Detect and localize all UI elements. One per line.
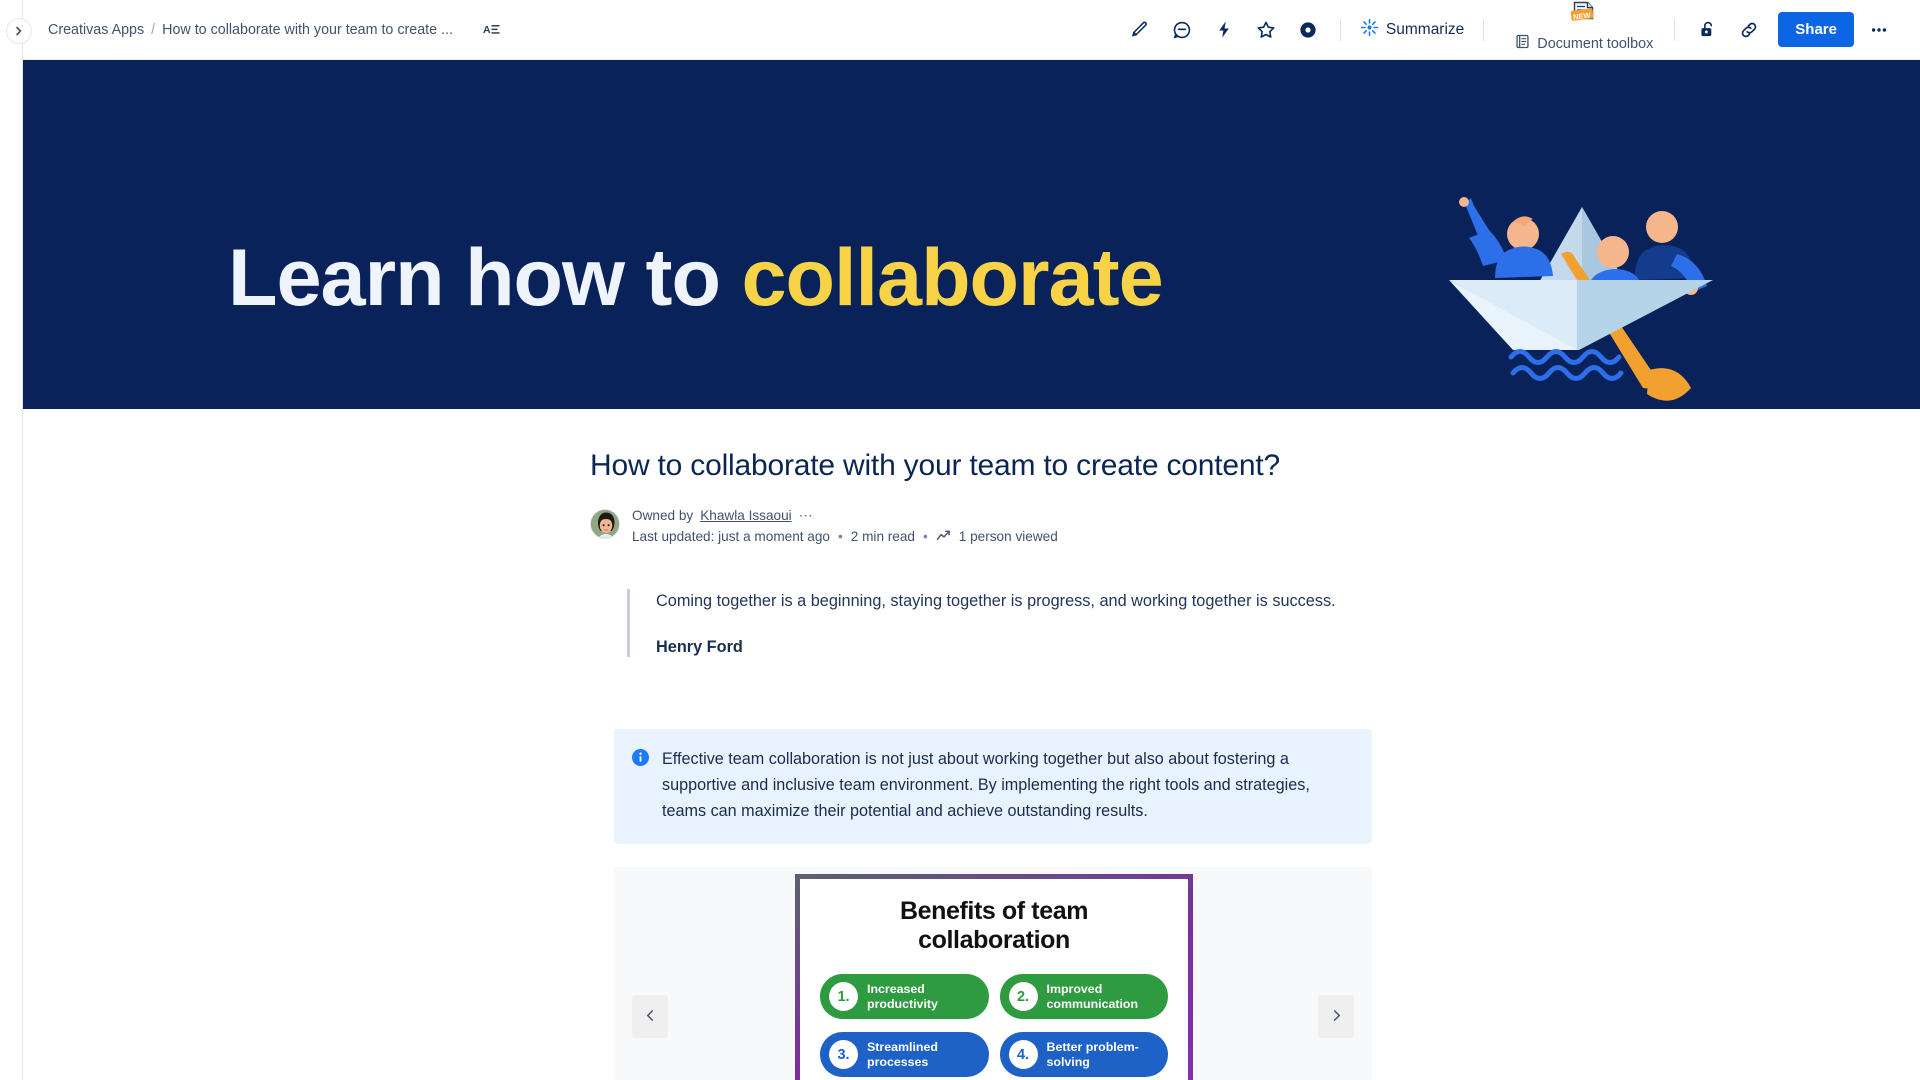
- list-item: 1. Increased productivity: [820, 974, 989, 1019]
- document-stats-row: Last updated: just a moment ago • 2 min …: [632, 529, 1058, 544]
- star-icon[interactable]: [1249, 13, 1283, 47]
- breadcrumb: Creativas Apps / How to collaborate with…: [48, 22, 500, 38]
- chevron-right-icon: [1330, 1009, 1343, 1025]
- text-format-icon[interactable]: A: [483, 22, 500, 37]
- list-item: 3. Streamlined processes: [820, 1032, 989, 1077]
- blockquote: Coming together is a beginning, staying …: [627, 589, 1387, 657]
- document-toolbox-button[interactable]: NEW Document toolbox: [1505, 12, 1663, 53]
- share-button[interactable]: Share: [1778, 12, 1854, 47]
- read-time-text: 2 min read: [851, 529, 915, 544]
- page-title: How to collaborate with your team to cre…: [590, 449, 1280, 483]
- comment-icon[interactable]: [1165, 13, 1199, 47]
- owned-by-label: Owned by: [632, 508, 693, 523]
- benefit-number: 4.: [1009, 1040, 1038, 1069]
- hero-banner: Learn how to collaborate: [23, 60, 1920, 409]
- new-badge-icon: NEW: [1569, 0, 1600, 30]
- automation-lightning-icon[interactable]: [1207, 13, 1241, 47]
- hero-title-plain: Learn how to: [228, 233, 742, 323]
- benefit-number: 2.: [1009, 982, 1038, 1011]
- benefits-list: 1. Increased productivity 2. Improved co…: [820, 974, 1168, 1080]
- image-carousel: Benefits of team collaboration 1. Increa…: [614, 867, 1372, 1080]
- analytics-chart-icon[interactable]: [936, 529, 951, 544]
- owner-row: Owned by Khawla Issaoui ⋯: [632, 507, 1058, 524]
- benefit-label-line1: Increased: [867, 982, 938, 997]
- info-circle-icon: [632, 749, 649, 825]
- owner-name-link[interactable]: Khawla Issaoui: [700, 508, 791, 523]
- toolbar-divider-2: [1483, 19, 1484, 41]
- sidebar-expand-button[interactable]: [6, 18, 32, 44]
- benefit-label-line2: productivity: [867, 997, 938, 1012]
- breadcrumb-space-link[interactable]: Creativas Apps: [48, 22, 144, 38]
- top-toolbar: Creativas Apps / How to collaborate with…: [23, 0, 1920, 60]
- info-panel: Effective team collaboration is not just…: [614, 729, 1372, 844]
- list-item: 4. Better problem- solving: [1000, 1032, 1169, 1077]
- benefit-label-line2: communication: [1047, 997, 1139, 1012]
- carousel-next-button[interactable]: [1318, 995, 1354, 1038]
- slide-heading-line2: collaboration: [820, 926, 1168, 955]
- owner-more-icon[interactable]: ⋯: [799, 507, 814, 524]
- benefit-label-line1: Streamlined: [867, 1040, 938, 1055]
- carousel-prev-button[interactable]: [632, 995, 668, 1038]
- hero-title-accent: collaborate: [742, 233, 1163, 323]
- breadcrumb-separator: /: [151, 22, 155, 38]
- ai-sparkle-icon: [1360, 18, 1379, 42]
- carousel-slide-image[interactable]: Benefits of team collaboration 1. Increa…: [795, 874, 1193, 1080]
- toolbar-divider-3: [1674, 19, 1675, 41]
- benefit-label-line2: solving: [1047, 1055, 1139, 1070]
- list-item: 2. Improved communication: [1000, 974, 1169, 1019]
- slide-heading-line1: Benefits of team: [820, 897, 1168, 926]
- last-updated-text: Last updated: just a moment ago: [632, 529, 830, 544]
- summarize-label: Summarize: [1386, 21, 1464, 39]
- svg-text:A: A: [483, 24, 491, 36]
- benefit-label: Streamlined processes: [867, 1040, 938, 1070]
- summarize-button[interactable]: Summarize: [1352, 13, 1472, 47]
- benefit-label: Improved communication: [1047, 982, 1139, 1012]
- quote-author: Henry Ford: [656, 638, 1387, 657]
- benefit-label-line2: processes: [867, 1055, 938, 1070]
- chevron-left-icon: [644, 1009, 657, 1025]
- stats-dot-2: •: [923, 529, 928, 544]
- views-count-text[interactable]: 1 person viewed: [959, 529, 1058, 544]
- team-in-paper-boat-illustration: [1427, 172, 1727, 402]
- unlock-icon[interactable]: [1690, 13, 1724, 47]
- benefit-number: 1.: [829, 982, 858, 1011]
- link-icon[interactable]: [1732, 13, 1766, 47]
- benefit-label: Better problem- solving: [1047, 1040, 1139, 1070]
- chevron-right-icon: [13, 25, 25, 37]
- benefit-label: Increased productivity: [867, 982, 938, 1012]
- info-panel-text: Effective team collaboration is not just…: [662, 746, 1352, 825]
- left-sidebar-rail: [0, 0, 23, 1080]
- stats-dot-1: •: [838, 529, 843, 544]
- document-body: How to collaborate with your team to cre…: [23, 409, 1920, 1080]
- toolbar-actions: Summarize NEW: [1119, 0, 1920, 60]
- watch-eye-icon[interactable]: [1291, 13, 1325, 47]
- svg-text:NEW: NEW: [1573, 11, 1591, 22]
- edit-pencil-icon[interactable]: [1123, 13, 1157, 47]
- document-metadata: Owned by Khawla Issaoui ⋯ Last updated: …: [590, 507, 1058, 544]
- hero-title: Learn how to collaborate: [228, 238, 1163, 319]
- toolbar-divider-1: [1340, 19, 1341, 41]
- document-toolbox-label: Document toolbox: [1537, 36, 1653, 52]
- slide-heading: Benefits of team collaboration: [820, 897, 1168, 955]
- benefit-label-line1: Improved: [1047, 982, 1139, 997]
- benefit-number: 3.: [829, 1040, 858, 1069]
- benefit-label-line1: Better problem-: [1047, 1040, 1139, 1055]
- more-ellipsis-icon[interactable]: [1862, 13, 1896, 47]
- avatar[interactable]: [590, 509, 620, 539]
- document-toolbox-icon: [1515, 34, 1530, 53]
- quote-text: Coming together is a beginning, staying …: [656, 589, 1387, 613]
- breadcrumb-current-page[interactable]: How to collaborate with your team to cre…: [162, 22, 453, 38]
